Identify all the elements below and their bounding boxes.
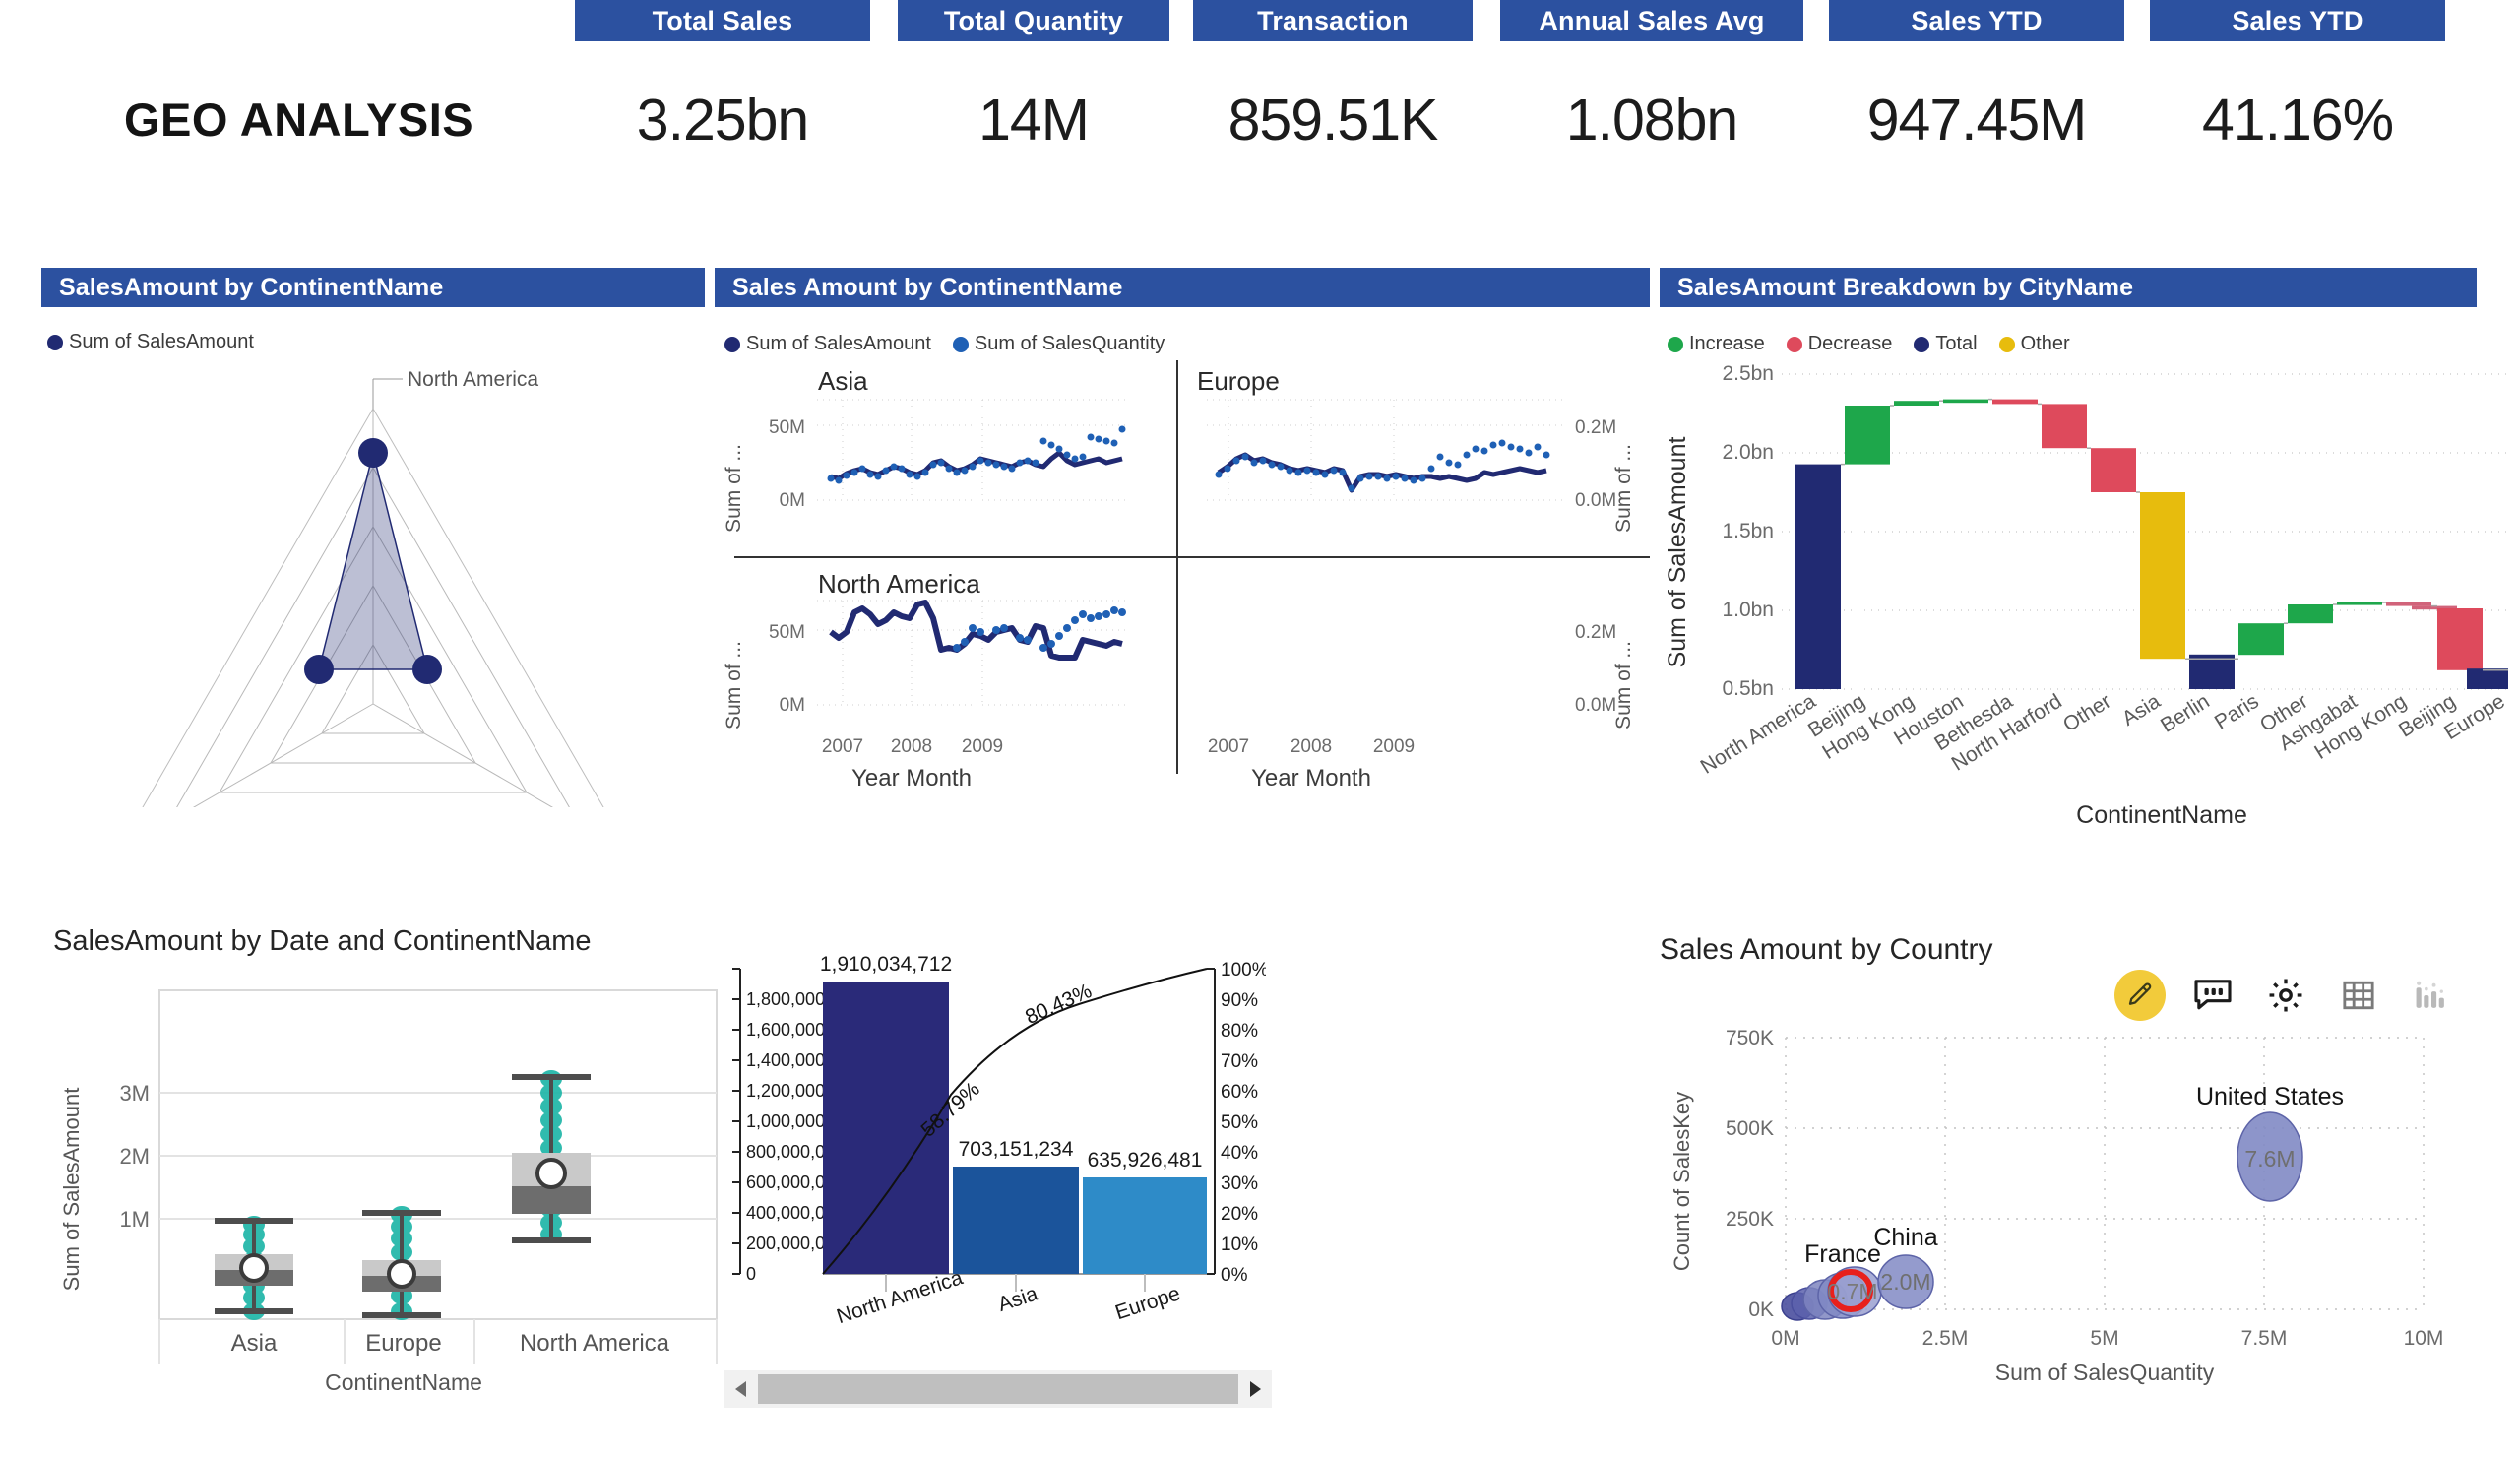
legend-item[interactable]: Total [1914,333,1977,355]
xaxis-title-right: Year Month [1251,765,1371,792]
radar-axis-label-north-america: North America [408,368,538,391]
kpi-value: 3.25bn [575,87,870,154]
pareto-rtick-100: 100% [1221,960,1266,981]
pareto-xtick-europe: Europe [1112,1282,1183,1324]
waterfall-bar-paris[interactable] [2288,604,2333,623]
ytick-na-0m: 0M [780,695,805,716]
waterfall-bar-bethesda[interactable] [1992,400,2038,405]
ytick-na-50m: 50M [769,622,805,643]
boxplot-yaxis-title: Sum of SalesAmount [59,1088,84,1292]
facet-title-north-america: North America [818,569,980,599]
kpi-label: Total Sales [575,0,870,41]
boxplot-mean-marker [241,1255,267,1281]
kpi-value: 1.08bn [1500,87,1803,154]
waterfall-xtick-north-america: North America [1697,690,1820,779]
legend-swatch [953,337,969,352]
legend-swatch [1999,337,2015,352]
bubble-chart[interactable]: Count of SalesKey 750K 500K 250K 0K 7.6M… [1660,1014,2487,1427]
panel-title-small-multiples: Sales Amount by ContinentName [715,268,1650,307]
legend-swatch [724,337,740,352]
bubble-label-united-states: United States [2196,1083,2344,1110]
pareto-value-europe: 635,926,481 [1088,1149,1203,1172]
bubble-xtick-25m: 2.5M [1922,1327,1969,1350]
boxplot-ytick-2m: 2M [119,1144,150,1169]
yaxis-title-north-america: Sum of ... [723,641,745,729]
waterfall-bar-north-america[interactable] [1795,465,1841,689]
xaxis-title-left: Year Month [851,765,972,792]
bubble-chart-title: Sales Amount by Country [1660,933,1993,967]
small-multiples-chart[interactable]: Asia Sum of ... 50M 0M Europe Sum of ...… [715,360,1650,902]
panel-title-waterfall: SalesAmount Breakdown by CityName [1660,268,2477,307]
bubble-ytick-0k: 0K [1748,1299,1774,1321]
waterfall-xtick-berlin: Berlin [2157,690,2214,737]
scrollbar-thumb[interactable] [758,1374,1238,1404]
waterfall-xtick-paris: Paris [2211,690,2263,734]
pareto-rtick-60: 60% [1221,1082,1258,1103]
bubble-xtick-75m: 7.5M [2241,1327,2288,1350]
scrollbar-track[interactable] [758,1374,1238,1404]
dashboard-header: GEO ANALYSIS Total Sales 3.25bn Total Qu… [0,0,2520,258]
waterfall-bar-other-increase[interactable] [2337,602,2382,605]
waterfall-bar-asia[interactable] [2189,655,2235,689]
boxplot-xtick-north-america: North America [520,1330,670,1357]
boxplot-xtick-europe: Europe [365,1330,441,1357]
legend-radar: Sum of SalesAmount [47,331,254,353]
legend-item[interactable]: Decrease [1787,333,1893,355]
kpi-total-quantity[interactable]: Total Quantity 14M [898,0,1169,154]
pareto-ltick-0: 0 [746,1264,756,1284]
pareto-rtick-80: 80% [1221,1021,1258,1042]
kpi-label: Sales YTD [1829,0,2124,41]
radar-point-asia[interactable] [412,655,442,684]
yaxis-title-bottom-right: Sum of ... [1612,641,1635,729]
kpi-sales-ytd-percent[interactable]: Sales YTD 41.16% [2150,0,2445,154]
bubble-xtick-5m: 5M [2090,1327,2118,1350]
ytick-br-00m: 0.0M [1575,695,1616,716]
pareto-bar-asia[interactable] [953,1167,1079,1274]
legend-waterfall: Increase Decrease Total Other [1668,333,2070,355]
legend-label: Sum of SalesAmount [69,331,254,353]
pareto-xtick-north-america: North America [834,1266,966,1328]
boxplot-box-lower [512,1186,591,1214]
line-asia-salesamount [831,453,1122,478]
pareto-rtick-50: 50% [1221,1112,1258,1133]
boxplot-mean-marker [537,1160,565,1187]
legend-small-multiples: Sum of SalesAmount Sum of SalesQuantity [724,333,1165,355]
bubble-value-label-united-states: 7.6M [2244,1146,2295,1172]
bubble-xtick-0m: 0M [1771,1327,1799,1350]
ytick-asia-50m: 50M [769,417,805,438]
legend-swatch [47,335,63,350]
pareto-rtick-70: 70% [1221,1051,1258,1072]
legend-label: Increase [1689,333,1765,355]
ytick-05bn: 0.5bn [1722,677,1774,700]
yaxis-title-europe: Sum of ... [1612,444,1635,533]
waterfall-bar-other[interactable] [2140,492,2185,659]
radar-point-europe[interactable] [304,655,334,684]
line-europe-salesamount [1219,455,1546,490]
panel-title-radar: SalesAmount by ContinentName [41,268,705,307]
legend-item[interactable]: Sum of SalesAmount [47,331,254,353]
legend-swatch [1668,337,1683,352]
ytick-europe-00m: 0.0M [1575,490,1616,511]
legend-item[interactable]: Increase [1668,333,1765,355]
scroll-left-arrow[interactable] [724,1370,758,1408]
boxplot-ytick-3m: 3M [119,1081,150,1106]
kpi-transaction[interactable]: Transaction 859.51K [1193,0,1473,154]
bubble-ytick-250k: 250K [1726,1208,1774,1231]
boxplot-xtick-asia: Asia [231,1330,278,1357]
scroll-right-arrow[interactable] [1238,1370,1272,1408]
waterfall-xtick-other-1: Other [2059,690,2115,736]
legend-item[interactable]: Other [1999,333,2070,355]
kpi-value: 859.51K [1193,87,1473,154]
waterfall-bar-beijing[interactable] [1845,406,1890,465]
legend-item[interactable]: Sum of SalesQuantity [953,333,1165,355]
waterfall-yaxis-title: Sum of SalesAmount [1664,437,1691,668]
pareto-rtick-20: 20% [1221,1204,1258,1225]
boxplot-xaxis-title: ContinentName [325,1369,482,1395]
pareto-rtick-30: 30% [1221,1173,1258,1194]
xtick-right-2008: 2008 [1291,736,1332,757]
waterfall-bar-berlin[interactable] [2238,623,2284,655]
boxplot-title: SalesAmount by Date and ContinentName [53,925,591,958]
ytick-25bn: 2.5bn [1722,362,1774,385]
waterfall-chart[interactable]: Sum of SalesAmount 2.5bn 2.0bn 1.5bn 1.0… [1660,360,2520,902]
kpi-label: Annual Sales Avg [1500,0,1803,41]
waterfall-bar-europe[interactable] [2467,668,2508,689]
yaxis-title-asia: Sum of ... [723,444,745,533]
kpi-label: Sales YTD [2150,0,2445,41]
xtick-right-2009: 2009 [1373,736,1415,757]
xtick-left-2009: 2009 [962,736,1003,757]
bubble-ytick-500k: 500K [1726,1117,1774,1140]
kpi-label: Transaction [1193,0,1473,41]
radar-series-area [319,453,427,669]
legend-label: Decrease [1808,333,1893,355]
page-title: GEO ANALYSIS [124,93,473,147]
xtick-right-2007: 2007 [1208,736,1249,757]
xtick-left-2007: 2007 [822,736,863,757]
pareto-xtick-asia: Asia [995,1282,1040,1316]
legend-item[interactable]: Sum of SalesAmount [724,333,931,355]
waterfall-bar-hong-kong[interactable] [1894,401,1939,406]
pareto-rtick-0: 0% [1221,1265,1248,1286]
waterfall-bar-north-harford[interactable] [2042,404,2087,448]
ytick-asia-0m: 0M [780,490,805,511]
legend-swatch [1914,337,1929,352]
kpi-total-sales[interactable]: Total Sales 3.25bn [575,0,870,154]
radar-chart[interactable]: North America Asia Europe [41,354,705,807]
pareto-rtick-10: 10% [1221,1235,1258,1255]
waterfall-xaxis-title: ContinentName [2076,801,2247,829]
ytick-br-02m: 0.2M [1575,622,1616,643]
pareto-value-north-america: 1,910,034,712 [820,953,952,976]
pareto-bar-europe[interactable] [1083,1177,1207,1274]
legend-label: Sum of SalesAmount [746,333,931,355]
pareto-cumlabel-2: 80.43% [1022,980,1095,1029]
bubble-yaxis-title: Count of SalesKey [1669,1092,1694,1271]
ytick-20bn: 2.0bn [1722,441,1774,464]
kpi-label: Total Quantity [898,0,1169,41]
dots-europe-salesquantity [1216,440,1550,492]
bubble-label-france: France [1804,1240,1881,1268]
bubble-xaxis-title: Sum of SalesQuantity [1995,1360,2215,1385]
pareto-value-asia: 703,151,234 [959,1138,1074,1161]
boxplot-chart[interactable]: Sum of SalesAmount 3M 2M 1M [53,973,732,1425]
ytick-15bn: 1.5bn [1722,520,1774,542]
pareto-chart[interactable]: 1,800,000,000 1,600,000,000 1,400,000,00… [715,949,1266,1362]
boxplot-mean-marker [389,1261,414,1287]
legend-label: Sum of SalesQuantity [975,333,1165,355]
legend-swatch [1787,337,1802,352]
ytick-10bn: 1.0bn [1722,599,1774,621]
kpi-sales-ytd-amount[interactable]: Sales YTD 947.45M [1829,0,2124,154]
facet-title-asia: Asia [818,366,868,396]
waterfall-bar-ashgabat[interactable] [2386,602,2431,606]
bubble-value-label-china: 2.0M [1880,1269,1930,1295]
waterfall-bar-beijing-2[interactable] [2437,608,2483,670]
pareto-rtick-40: 40% [1221,1143,1258,1164]
ytick-europe-02m: 0.2M [1575,417,1616,438]
kpi-value: 41.16% [2150,87,2445,154]
pareto-horizontal-scrollbar[interactable] [724,1370,1272,1408]
waterfall-bars[interactable] [1795,400,2508,689]
kpi-value: 947.45M [1829,87,2124,154]
legend-label: Total [1935,333,1977,355]
bubble-value-label-france: 0.7M [1827,1279,1877,1304]
kpi-annual-sales-avg[interactable]: Annual Sales Avg 1.08bn [1500,0,1803,154]
bubble-label-china: China [1873,1224,1937,1251]
bubble-xtick-10m: 10M [2404,1327,2444,1350]
boxplot-ytick-1m: 1M [119,1207,150,1232]
waterfall-xtick-asia: Asia [2118,690,2165,730]
kpi-value: 14M [898,87,1169,154]
facet-title-europe: Europe [1197,366,1280,396]
pareto-rtick-90: 90% [1221,990,1258,1011]
xtick-left-2008: 2008 [891,736,932,757]
legend-label: Other [2021,333,2070,355]
dots-asia-salesquantity [828,426,1126,484]
bubble-ytick-750k: 750K [1726,1027,1774,1049]
waterfall-bar-houston[interactable] [1943,400,1988,404]
waterfall-bar-other-decrease[interactable] [2091,448,2136,492]
radar-point-north-america[interactable] [358,438,388,468]
